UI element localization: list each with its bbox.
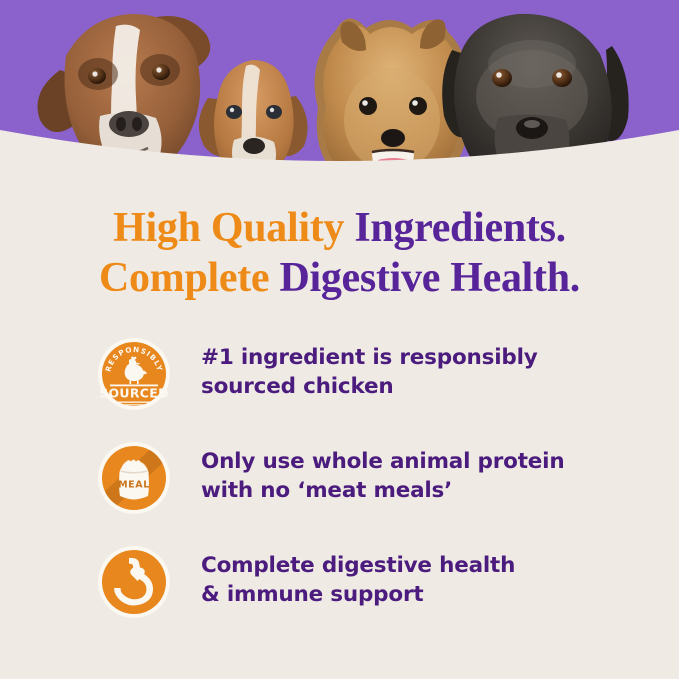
list-item-text: #1 ingredient is responsibly sourced chi… (201, 336, 636, 401)
list-item: RESPONSIBLY SOURCED (96, 336, 636, 440)
page-title: High Quality Ingredients. Complete Diges… (0, 203, 679, 303)
list-item-text: Only use whole animal protein with no ‘m… (201, 440, 636, 505)
bullet2-line2: with no ‘meat meals’ (201, 476, 636, 505)
stomach-heart-icon (96, 544, 172, 620)
hero-bottom-curve (0, 130, 679, 200)
headline-line2-orange: Complete (99, 255, 279, 301)
sack-label: MEAL (118, 480, 150, 491)
infographic-page: High Quality Ingredients. Complete Diges… (0, 0, 679, 679)
headline-line-1: High Quality Ingredients. (0, 203, 679, 253)
bullet3-line2: & immune support (201, 580, 636, 609)
headline-line2-purple: Digestive Health. (279, 255, 580, 301)
headline-line1-purple: Ingredients. (354, 205, 566, 251)
no-meat-meal-sack-icon: MEAL (96, 440, 172, 516)
list-item: Complete digestive health & immune suppo… (96, 544, 636, 648)
benefits-list: RESPONSIBLY SOURCED (96, 336, 636, 648)
bullet1-line1: #1 ingredient is responsibly (201, 345, 538, 370)
bullet1-line2: sourced chicken (201, 372, 636, 401)
bullet2-line1: Only use whole animal protein (201, 449, 564, 474)
headline-line-2: Complete Digestive Health. (0, 253, 679, 303)
bullet3-line1: Complete digestive health (201, 553, 515, 578)
responsibly-sourced-badge-icon: RESPONSIBLY SOURCED (96, 336, 172, 412)
list-item: MEAL Only use whole animal protein with … (96, 440, 636, 544)
badge-main-text: SOURCED (99, 386, 169, 401)
headline-line1-orange: High Quality (113, 205, 354, 251)
list-item-text: Complete digestive health & immune suppo… (201, 544, 636, 609)
hero-banner (0, 0, 679, 200)
